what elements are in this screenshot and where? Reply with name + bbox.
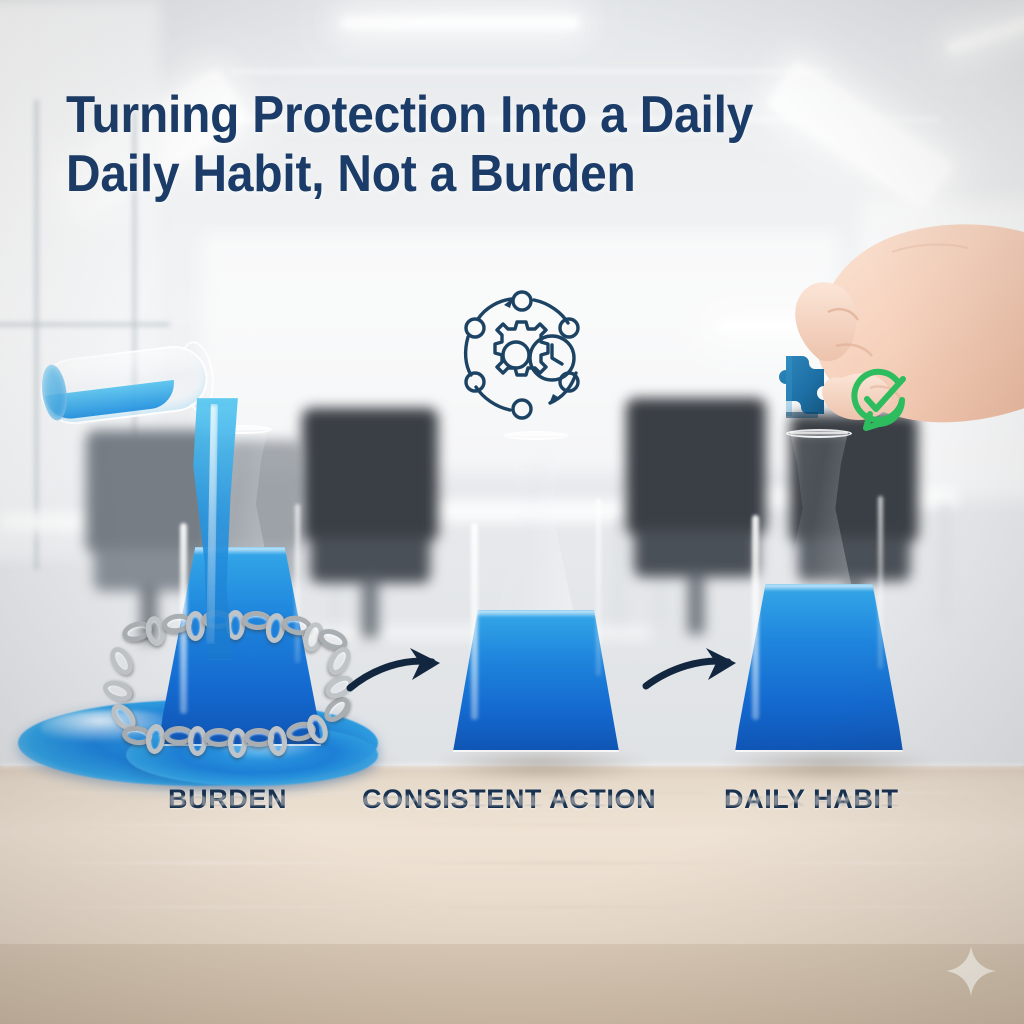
stage-label-text: CONSISTENT ACTION: [362, 784, 656, 814]
ceiling-light: [340, 16, 580, 30]
window-mullion: [34, 100, 39, 570]
flask-shadow: [716, 748, 938, 782]
stage-label-burden: BURDEN BURDEN: [168, 784, 287, 815]
ceiling-seam: [230, 70, 830, 73]
flask-consistent-action: [446, 434, 626, 752]
stage-label-consistent: CONSISTENT ACTION CONSISTENT ACTION: [362, 784, 656, 815]
stage-label-text: DAILY HABIT: [724, 784, 899, 814]
flask-shadow: [432, 748, 652, 782]
cycle-gear-clock-icon: [452, 285, 592, 425]
infographic-canvas: Turning Protection Into a Daily Daily Ha…: [0, 0, 1024, 1024]
flask-burden: [152, 428, 328, 746]
desk-front-face: [0, 944, 1024, 1024]
flask-daily-habit: [728, 432, 910, 752]
window-mullion: [0, 322, 170, 327]
sparkle-icon: [944, 944, 998, 998]
green-check-circle-icon: [846, 366, 912, 432]
background-desk-leg: [940, 504, 950, 622]
puzzle-piece-icon: [770, 350, 832, 422]
stage-label-text: BURDEN: [168, 784, 287, 814]
stage-label-daily-habit: DAILY HABIT DAILY HABIT: [724, 784, 899, 815]
right-arrow-icon: [344, 644, 450, 706]
